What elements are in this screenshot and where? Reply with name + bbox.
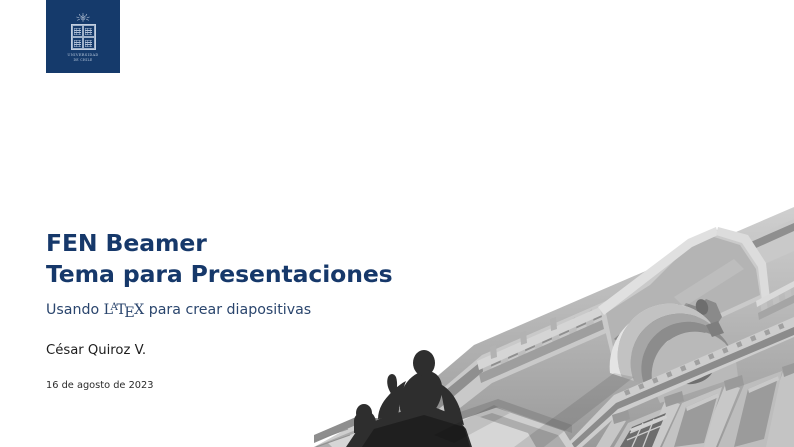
crest-quadrant: [83, 37, 95, 49]
latex-a: A: [111, 302, 118, 313]
crest-quadrant: [72, 25, 84, 37]
latex-e: E: [124, 305, 134, 321]
subtitle-suffix: para crear diapositivas: [144, 301, 311, 319]
crest-quadrant: [83, 25, 95, 37]
latex-logo-icon: LATEX: [104, 303, 145, 317]
university-wordmark: Universidad de Chile: [67, 53, 98, 62]
wordmark-line-2: de Chile: [67, 58, 98, 62]
universidad-de-chile-crest-icon: Universidad de Chile: [67, 12, 98, 62]
latex-x: X: [134, 302, 144, 318]
crest-quadrant: [72, 37, 84, 49]
author-name: César Quiroz V.: [46, 342, 476, 359]
sun-rays-icon: [73, 12, 93, 23]
title-text-block: FEN Beamer Tema para Presentaciones Usan…: [46, 228, 476, 392]
presentation-date: 16 de agosto de 2023: [46, 380, 476, 393]
crest-shield-icon: [71, 24, 96, 50]
university-logo-box: Universidad de Chile: [46, 0, 120, 73]
page-title: FEN Beamer Tema para Presentaciones: [46, 228, 476, 290]
subtitle-prefix: Usando: [46, 301, 104, 319]
slide-subtitle: Usando LATEX para crear diapositivas: [46, 301, 476, 319]
beamer-title-slide: Universidad de Chile FEN Beamer Tema par…: [0, 0, 794, 447]
